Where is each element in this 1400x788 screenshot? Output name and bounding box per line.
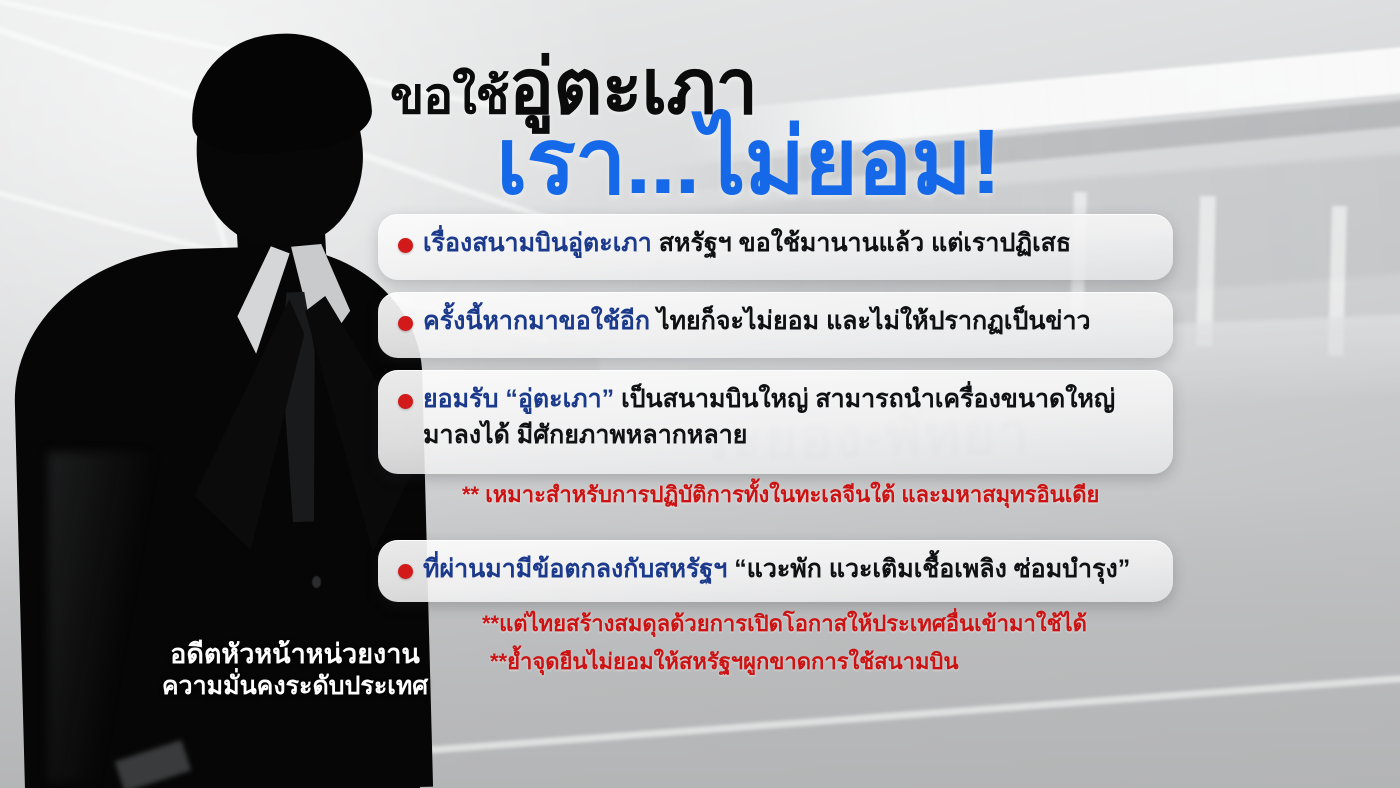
bullet-text-2: ครั้งนี้หากมาขอใช้อีก ไทยก็จะไม่ยอม และไ… [423, 304, 1091, 340]
bullet-dot-icon [398, 316, 413, 331]
footnote-1: ** เหมาะสำหรับการปฏิบัติการทั้งในทะเลจีน… [462, 477, 1099, 512]
headline-prefix: ขอใช้ [390, 68, 509, 124]
headline: ขอใช้อู่ตะเภา เรา...ไม่ยอม! [390, 52, 1150, 206]
bullet-row: ครั้งนี้หากมาขอใช้อีก ไทยก็จะไม่ยอม และไ… [398, 304, 1151, 340]
bullet-text-blue: ยอมรับ “อู่ตะเภา” [423, 385, 614, 413]
bullet-text-black: ไทยก็จะไม่ยอม และไม่ให้ปรากฏเป็นข่าว [650, 307, 1091, 335]
footnote-3: **ย้ำจุดยืนไม่ยอมให้สหรัฐฯผูกขาดการใช้สน… [490, 644, 959, 679]
bullet-dot-icon [398, 238, 413, 253]
bullet-text-3: ยอมรับ “อู่ตะเภา” เป็นสนามบินใหญ่ สามารถ… [423, 382, 1115, 418]
bullet-text-1: เรื่องสนามบินอู่ตะเภา สหรัฐฯ ขอใช้มานานแ… [423, 226, 1071, 262]
bullet-dot-icon [398, 394, 413, 409]
headline-emphasis: เรา...ไม่ยอม! [496, 111, 1001, 213]
speaker-caption: อดีตหัวหน้าหน่วยงาน ความมั่นคงระดับประเท… [130, 638, 460, 701]
news-graphic-stage: ระยอง-พัทยา ขอใช้อู่ตะเภา เรา...ไม่ยอม! [0, 0, 1400, 788]
bullet-row: ยอมรับ “อู่ตะเภา” เป็นสนามบินใหญ่ สามารถ… [398, 382, 1151, 418]
bullet-dot-icon [398, 564, 413, 579]
headline-line-2: เรา...ไม่ยอม! [390, 119, 1150, 205]
bullet-card-1[interactable]: เรื่องสนามบินอู่ตะเภา สหรัฐฯ ขอใช้มานานแ… [378, 214, 1173, 280]
bullet-row: เรื่องสนามบินอู่ตะเภา สหรัฐฯ ขอใช้มานานแ… [398, 226, 1151, 262]
bullet-row: ที่ผ่านมามีข้อตกลงกับสหรัฐฯ “แวะพัก แวะเ… [398, 552, 1151, 588]
footnote-2: **แต่ไทยสร้างสมดุลด้วยการเปิดโอกาสให้ประ… [482, 606, 1087, 641]
bullet-card-list: เรื่องสนามบินอู่ตะเภา สหรัฐฯ ขอใช้มานานแ… [378, 214, 1173, 614]
caption-line-2: ความมั่นคงระดับประเทศ [130, 671, 460, 702]
bullet-card-3[interactable]: ยอมรับ “อู่ตะเภา” เป็นสนามบินใหญ่ สามารถ… [378, 370, 1173, 474]
bullet-text-3-line-2: มาลงได้ มีศักยภาพหลากหลาย [398, 418, 1151, 454]
bullet-card-2[interactable]: ครั้งนี้หากมาขอใช้อีก ไทยก็จะไม่ยอม และไ… [378, 292, 1173, 358]
bullet-text-black: สหรัฐฯ ขอใช้มานานแล้ว แต่เราปฏิเสธ [652, 229, 1071, 257]
bullet-text-4: ที่ผ่านมามีข้อตกลงกับสหรัฐฯ “แวะพัก แวะเ… [423, 552, 1130, 588]
bullet-text-blue: ที่ผ่านมามีข้อตกลงกับสหรัฐฯ [423, 555, 727, 583]
caption-line-1: อดีตหัวหน้าหน่วยงาน [130, 638, 460, 671]
bullet-text-black: “แวะพัก แวะเติมเชื้อเพลิง ซ่อมบำรุง” [727, 555, 1130, 583]
bullet-text-black: เป็นสนามบินใหญ่ สามารถนำเครื่องขนาดใหญ่ [614, 385, 1115, 413]
bullet-text-blue: เรื่องสนามบินอู่ตะเภา [423, 229, 652, 257]
bullet-text-blue: ครั้งนี้หากมาขอใช้อีก [423, 307, 650, 335]
bullet-card-4[interactable]: ที่ผ่านมามีข้อตกลงกับสหรัฐฯ “แวะพัก แวะเ… [378, 540, 1173, 602]
